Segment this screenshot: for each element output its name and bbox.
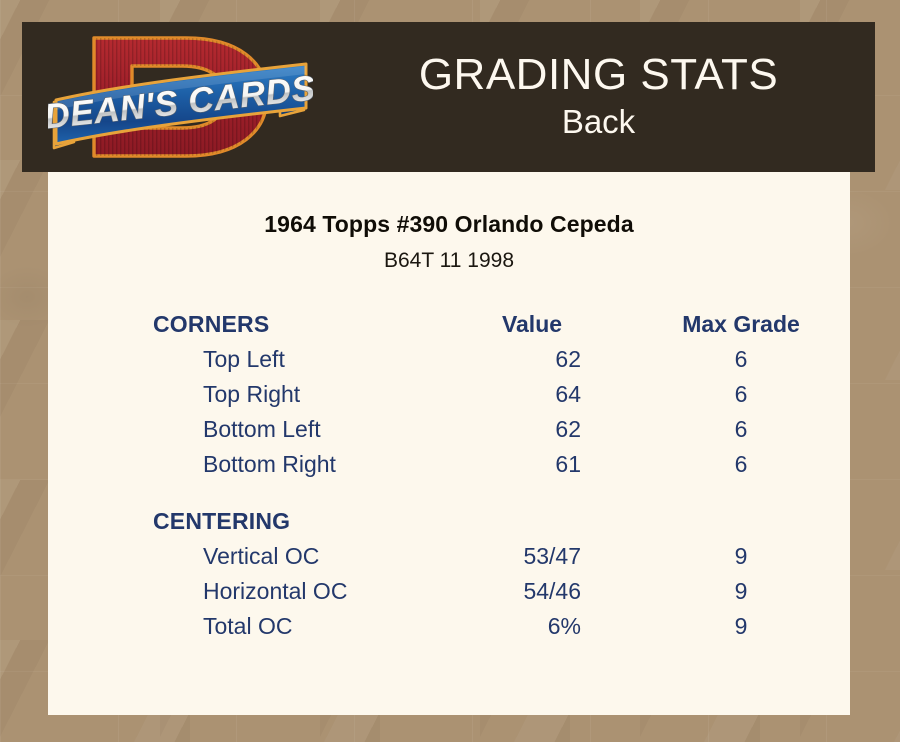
row-label: Total OC [48, 609, 448, 644]
grading-stats-page: DEAN'S CARDS GRADING STATS Back 1964 Top… [0, 0, 900, 742]
table-row: Bottom Left 62 6 [48, 412, 850, 447]
centering-table: CENTERING Vertical OC 53/47 9 Horizontal… [48, 504, 850, 644]
row-max-grade: 6 [628, 447, 850, 482]
column-header-value: Value [448, 307, 628, 342]
centering-section: CENTERING Vertical OC 53/47 9 Horizontal… [48, 504, 850, 644]
corners-table: CORNERS Value Max Grade Top Left 62 6 To… [48, 307, 850, 482]
row-value: 6% [448, 609, 628, 644]
corners-section: CORNERS Value Max Grade Top Left 62 6 To… [48, 307, 850, 482]
card-subtitle: B64T 11 1998 [48, 249, 850, 273]
row-max-grade: 6 [628, 342, 850, 377]
row-label: Vertical OC [48, 539, 448, 574]
table-row: Horizontal OC 54/46 9 [48, 574, 850, 609]
row-label: Horizontal OC [48, 574, 448, 609]
header-title-group: GRADING STATS Back [322, 22, 875, 172]
row-label: Top Right [48, 377, 448, 412]
section-title-centering: CENTERING [48, 504, 448, 539]
card-title: 1964 Topps #390 Orlando Cepeda [48, 211, 850, 238]
row-value: 62 [448, 412, 628, 447]
row-value: 53/47 [448, 539, 628, 574]
table-row: Bottom Right 61 6 [48, 447, 850, 482]
row-max-grade: 6 [628, 412, 850, 447]
row-value: 54/46 [448, 574, 628, 609]
deans-cards-logo-graphic: DEAN'S CARDS [48, 24, 313, 170]
row-max-grade: 9 [628, 609, 850, 644]
page-title: GRADING STATS [419, 52, 778, 99]
row-value: 62 [448, 342, 628, 377]
row-label: Top Left [48, 342, 448, 377]
table-row: Vertical OC 53/47 9 [48, 539, 850, 574]
row-max-grade: 9 [628, 539, 850, 574]
page-subtitle: Back [562, 102, 635, 142]
corners-header-row: CORNERS Value Max Grade [48, 307, 850, 342]
row-label: Bottom Left [48, 412, 448, 447]
spacer-cell [448, 504, 628, 539]
row-value: 61 [448, 447, 628, 482]
row-value: 64 [448, 377, 628, 412]
column-header-max-grade: Max Grade [628, 307, 850, 342]
section-title-corners: CORNERS [48, 307, 448, 342]
table-row: Total OC 6% 9 [48, 609, 850, 644]
deans-cards-logo[interactable]: DEAN'S CARDS [48, 24, 313, 170]
table-row: Top Left 62 6 [48, 342, 850, 377]
row-max-grade: 9 [628, 574, 850, 609]
table-row: Top Right 64 6 [48, 377, 850, 412]
content-panel: 1964 Topps #390 Orlando Cepeda B64T 11 1… [48, 172, 850, 715]
row-max-grade: 6 [628, 377, 850, 412]
row-label: Bottom Right [48, 447, 448, 482]
centering-header-row: CENTERING [48, 504, 850, 539]
header-bar: DEAN'S CARDS GRADING STATS Back [22, 22, 875, 172]
spacer-cell [628, 504, 850, 539]
